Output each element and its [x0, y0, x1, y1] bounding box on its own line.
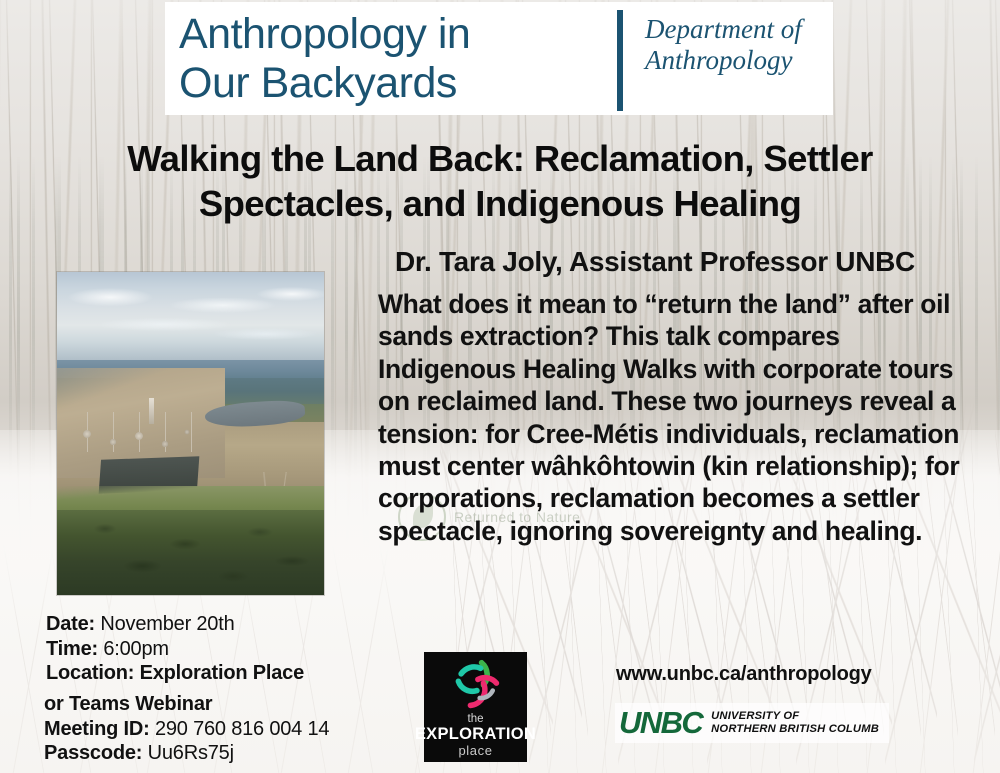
meeting-id-value: 290 760 816 004 14: [155, 718, 329, 740]
department-website-url[interactable]: www.unbc.ca/anthropology: [616, 663, 872, 686]
department-line-2: Anthropology: [645, 45, 833, 76]
meeting-id-row: Meeting ID: 290 760 816 004 14: [44, 717, 329, 742]
unbc-name-line-1: UNIVERSITY OF: [711, 710, 879, 724]
series-banner-title: Anthropology in Our Backyards: [165, 2, 617, 115]
unbc-full-name: UNIVERSITY OF NORTHERN BRITISH COLUMB: [711, 710, 879, 737]
webinar-heading-label: or Teams Webinar: [44, 693, 212, 715]
photo-clouds: [57, 278, 324, 358]
date-value: November 20th: [100, 613, 234, 635]
date-label: Date:: [46, 613, 95, 635]
location-label: Location:: [46, 662, 134, 684]
time-value: 6:00pm: [103, 638, 169, 660]
location-value: Exploration Place: [140, 662, 304, 684]
event-date-row: Date: November 20th: [46, 612, 304, 637]
meeting-id-label: Meeting ID:: [44, 718, 150, 740]
unbc-wordmark: UNBC: [619, 707, 702, 739]
unbc-logo: UNBC UNIVERSITY OF NORTHERN BRITISH COLU…: [615, 703, 889, 743]
passcode-row: Passcode: Uu6Rs75j: [44, 741, 329, 766]
talk-title: Walking the Land Back: Reclamation, Sett…: [28, 136, 972, 226]
webinar-heading: or Teams Webinar: [44, 692, 329, 717]
department-line-1: Department of: [645, 14, 833, 45]
series-title-line-1: Anthropology in: [179, 10, 617, 59]
time-label: Time:: [46, 638, 98, 660]
series-banner: Anthropology in Our Backyards Department…: [165, 2, 833, 115]
exploration-place-place: place: [458, 743, 492, 758]
event-time-row: Time: 6:00pm: [46, 637, 304, 662]
department-name: Department of Anthropology: [623, 2, 833, 115]
photo-forest-texture: [57, 510, 324, 595]
speaker-name: Dr. Tara Joly, Assistant Professor UNBC: [340, 245, 970, 279]
exploration-place-pinwheel-icon: [448, 659, 504, 711]
photo-storage-tanks: [75, 412, 207, 452]
teams-webinar-details: or Teams Webinar Meeting ID: 290 760 816…: [44, 692, 329, 766]
oil-sands-aerial-photo: [57, 272, 324, 595]
series-title-line-2: Our Backyards: [179, 59, 617, 108]
passcode-label: Passcode:: [44, 742, 142, 764]
exploration-place-main: EXPLORATION: [415, 725, 536, 743]
exploration-place-logo: the EXPLORATION place: [424, 652, 527, 762]
unbc-name-line-2: NORTHERN BRITISH COLUMB: [711, 723, 879, 737]
talk-abstract: What does it mean to “return the land” a…: [378, 288, 978, 547]
exploration-place-the: the: [468, 713, 484, 725]
photo-smokestack: [149, 398, 154, 424]
event-location-row: Location: Exploration Place: [46, 661, 304, 686]
event-poster: Anthropology in Our Backyards Department…: [0, 0, 1000, 773]
passcode-value: Uu6Rs75j: [148, 742, 234, 764]
event-details: Date: November 20th Time: 6:00pm Locatio…: [46, 612, 304, 686]
